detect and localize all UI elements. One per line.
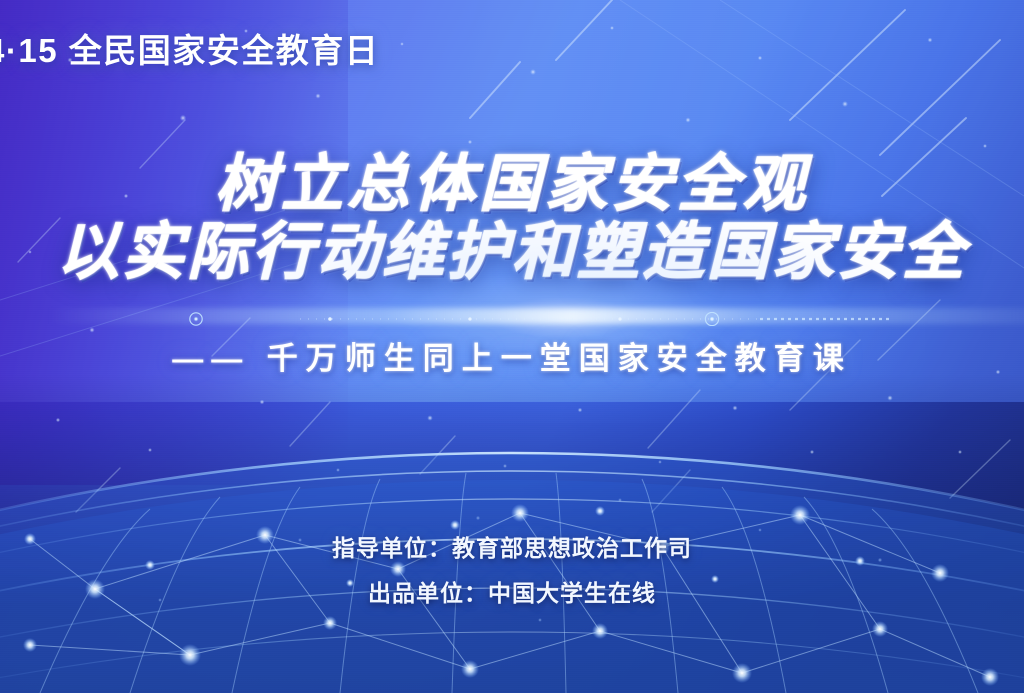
subtitle-text: —— 千万师生同上一堂国家安全教育课 (0, 333, 1024, 378)
main-title: 树立总体国家安全观 以实际行动维护和塑造国家安全 (0, 152, 1024, 288)
credit-line-producer: 出品单位：中国大学生在线 (0, 582, 1024, 605)
credit-line-guidance: 指导单位：教育部思想政治工作司 (0, 537, 1024, 560)
title-line-1: 树立总体国家安全观 (0, 152, 1024, 215)
credits-block: 指导单位：教育部思想政治工作司 出品单位：中国大学生在线 (0, 537, 1024, 605)
title-line-2: 以实际行动维护和塑造国家安全 (0, 215, 1024, 288)
campaign-kicker-text: 4·15 全民国家安全教育日 (0, 24, 379, 72)
poster-canvas: 4·15 全民国家安全教育日 树立总体国家安全观 以实际行动维护和塑造国家安全 (0, 0, 1024, 693)
poster-content: 4·15 全民国家安全教育日 树立总体国家安全观 以实际行动维护和塑造国家安全 (0, 0, 1024, 693)
decorative-divider (0, 312, 1024, 326)
